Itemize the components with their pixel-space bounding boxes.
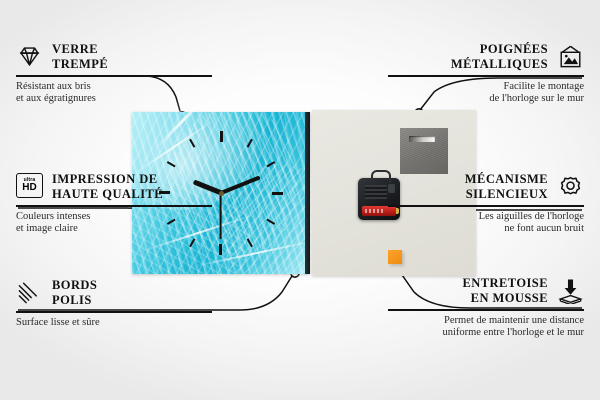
callout-rule bbox=[16, 311, 212, 313]
foam-spacer bbox=[388, 250, 402, 264]
callout-title: POIGNÉES MÉTALLIQUES bbox=[451, 42, 548, 71]
ultra-hd-icon: ultra HD bbox=[16, 173, 43, 200]
callout-subtitle: Les aiguilles de l'horloge ne font aucun… bbox=[388, 211, 584, 236]
ultra-hd-icon-main: HD bbox=[22, 183, 36, 193]
callout-subtitle: Facilite le montage de l'horloge sur le … bbox=[388, 81, 584, 106]
hand-cap bbox=[219, 191, 224, 196]
callout-mecanisme-silencieux: MÉCANISME SILENCIEUX Les aiguilles de l'… bbox=[388, 172, 584, 236]
callout-impression-haute-qualite: ultra HD IMPRESSION DE HAUTE QUALITÉ Cou… bbox=[16, 172, 212, 236]
gear-icon bbox=[557, 173, 584, 200]
callout-rule bbox=[388, 205, 584, 207]
callout-verre-trempe: VERRE TREMPÉ Résistant aux bris et aux é… bbox=[16, 42, 212, 106]
callout-rule bbox=[388, 75, 584, 77]
callout-rule bbox=[16, 75, 212, 77]
callout-title: ENTRETOISE EN MOUSSE bbox=[462, 276, 548, 305]
callout-subtitle: Surface lisse et sûre bbox=[16, 317, 212, 330]
infographic-canvas: VERRE TREMPÉ Résistant aux bris et aux é… bbox=[0, 0, 600, 400]
diamond-icon bbox=[16, 43, 43, 70]
callout-entretoise-en-mousse: ENTRETOISE EN MOUSSE Permet de maintenir… bbox=[388, 276, 584, 340]
mechanism-vent bbox=[365, 185, 387, 199]
callout-title: IMPRESSION DE HAUTE QUALITÉ bbox=[52, 172, 163, 201]
metal-hanger-plate bbox=[400, 128, 448, 174]
polished-edges-icon bbox=[16, 279, 43, 306]
callout-title: BORDS POLIS bbox=[52, 278, 97, 307]
callout-title: VERRE TREMPÉ bbox=[52, 42, 108, 71]
second-hand bbox=[220, 193, 222, 239]
hanger-slot bbox=[409, 136, 435, 142]
callout-title: MÉCANISME SILENCIEUX bbox=[465, 172, 548, 201]
picture-frame-icon bbox=[557, 43, 584, 70]
callout-poignees-metalliques: POIGNÉES MÉTALLIQUES Facilite le montage… bbox=[388, 42, 584, 106]
callout-rule bbox=[388, 309, 584, 311]
callout-bords-polis: BORDS POLIS Surface lisse et sûre bbox=[16, 278, 212, 329]
battery-label bbox=[365, 209, 385, 213]
callout-subtitle: Résistant aux bris et aux égratignures bbox=[16, 81, 212, 106]
callout-subtitle: Permet de maintenir une distance uniform… bbox=[388, 315, 584, 340]
callout-rule bbox=[16, 205, 212, 207]
foam-spacer-icon bbox=[557, 277, 584, 304]
callout-subtitle: Couleurs intenses et image claire bbox=[16, 211, 212, 236]
